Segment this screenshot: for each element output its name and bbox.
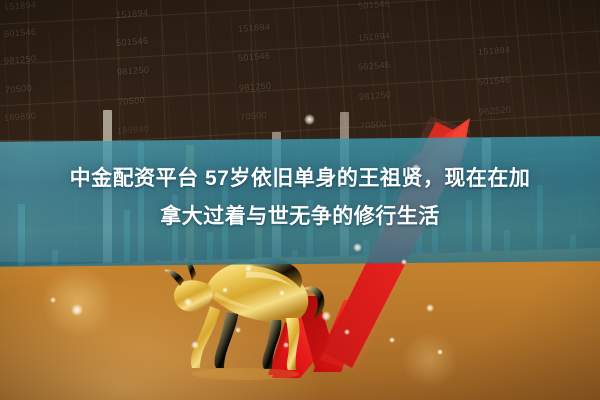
banner-image: 1518945015469812507050018989067107015189… (0, 0, 600, 400)
headline-line-2: 拿大过着与世无争的修行生活 (12, 198, 588, 236)
headline-line-1: 中金配资平台 57岁依旧单身的王祖贤，现在在加 (12, 160, 588, 198)
headline-text: 中金配资平台 57岁依旧单身的王祖贤，现在在加 拿大过着与世无争的修行生活 (0, 160, 600, 236)
golden-floor (0, 248, 600, 400)
